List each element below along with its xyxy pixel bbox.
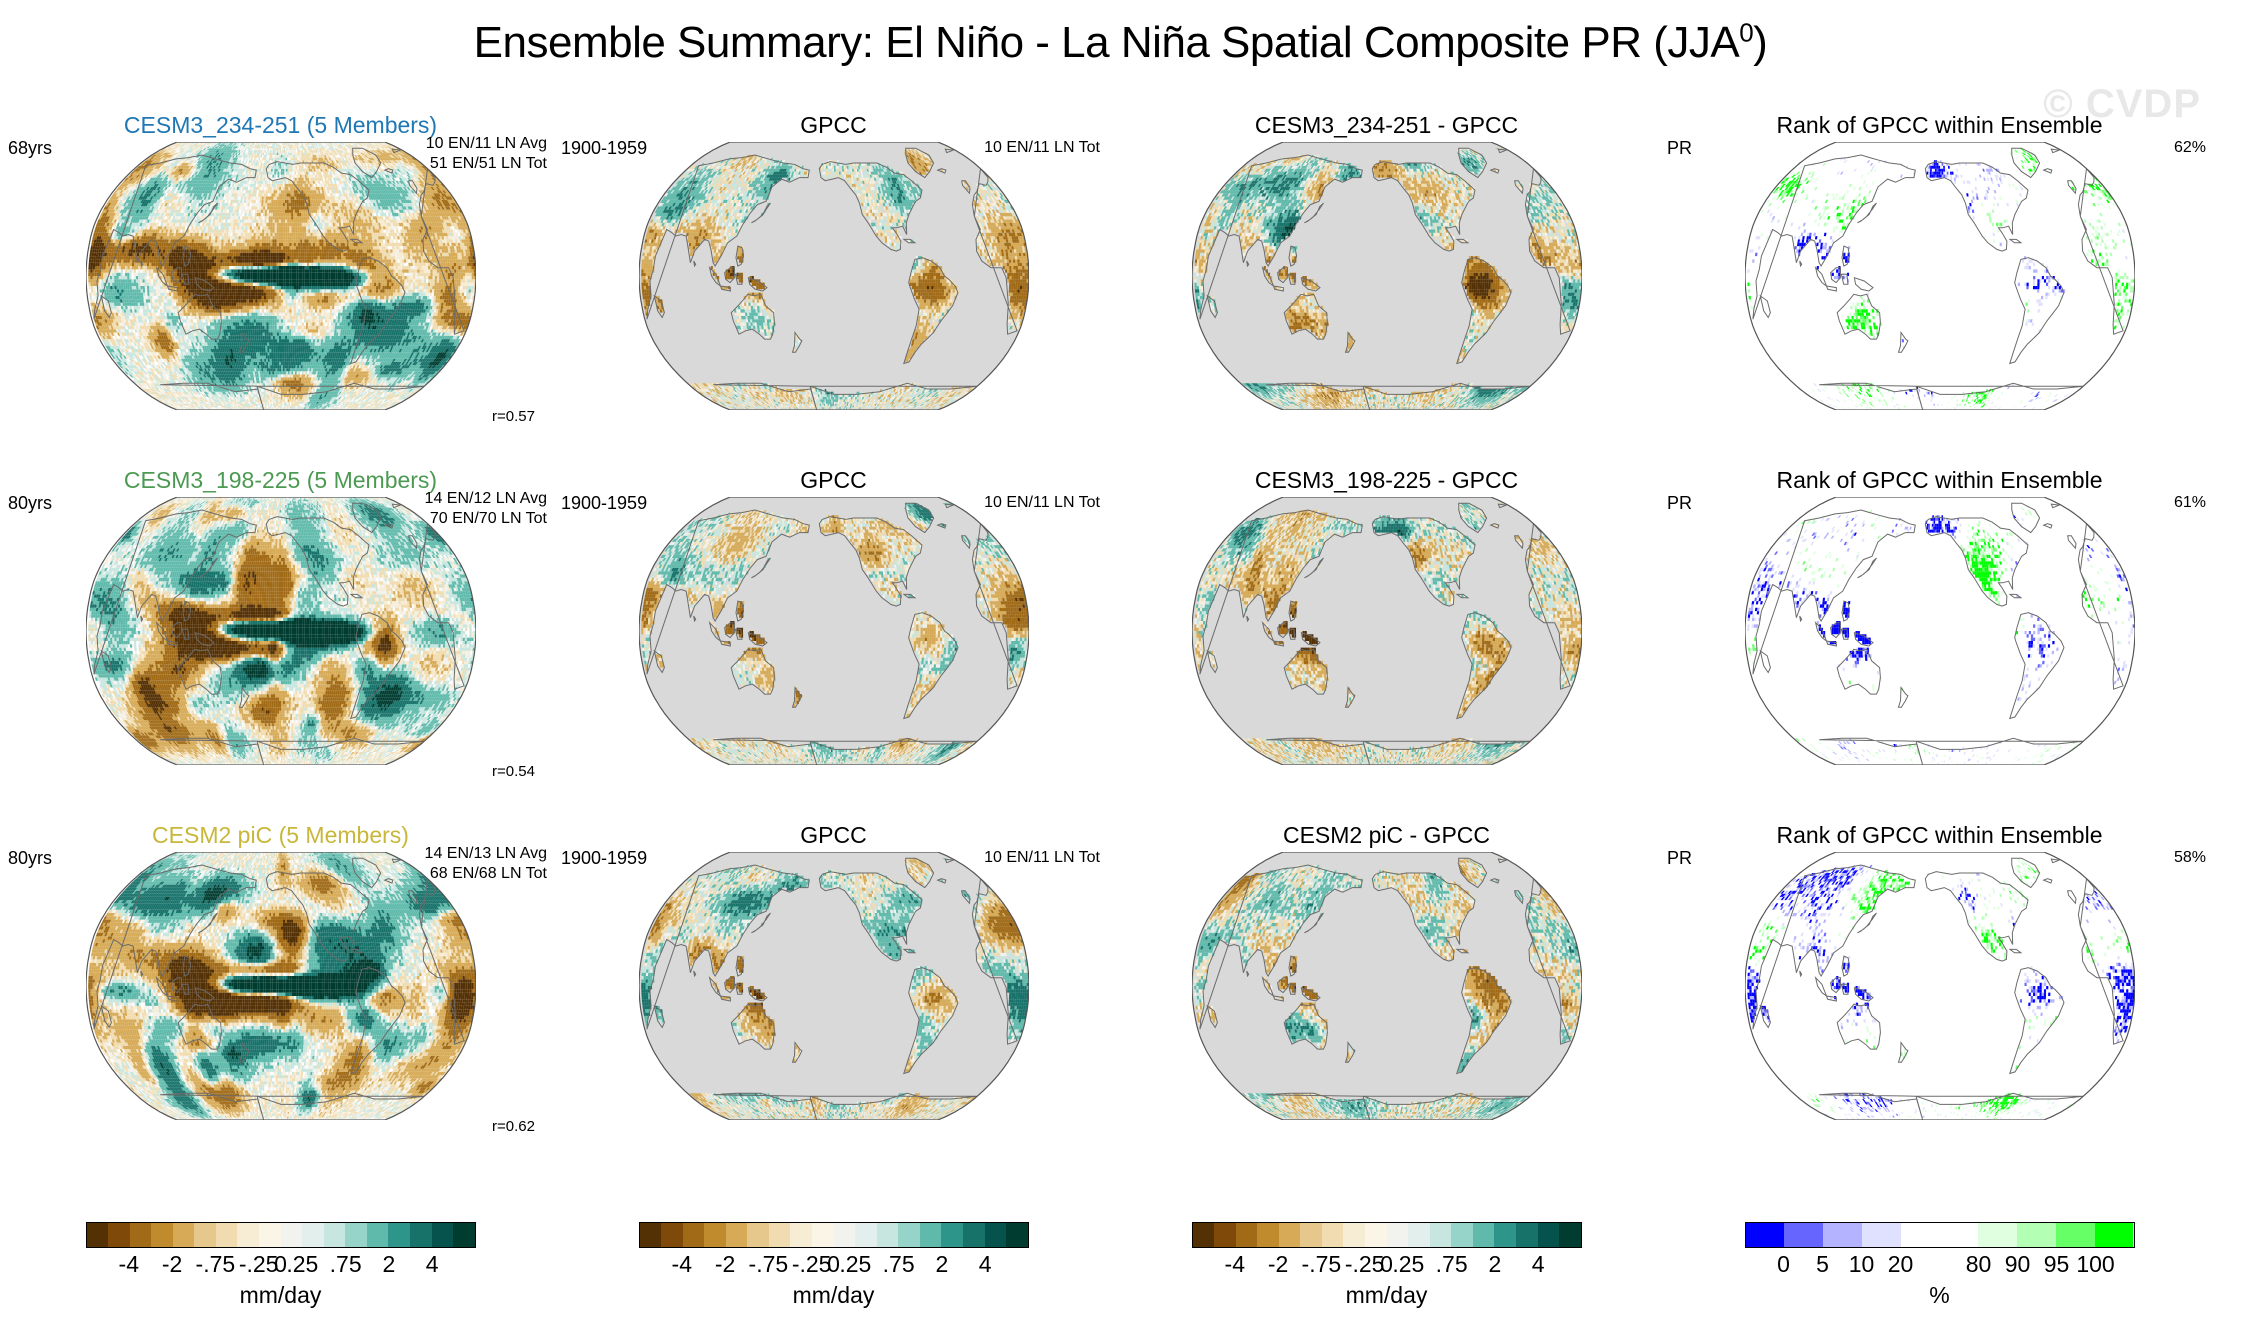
precip-colorbar-2-tick: 2 xyxy=(936,1251,949,1278)
rank-colorbar-swatch xyxy=(1901,1223,1940,1247)
rank-colorbar-swatch xyxy=(1823,1223,1862,1247)
precip-colorbar-3-swatch xyxy=(1193,1223,1215,1247)
precip-colorbar-3-swatch xyxy=(1300,1223,1322,1247)
rank-colorbar-unit: % xyxy=(1745,1282,2135,1309)
rank-colorbar-swatch xyxy=(2056,1223,2095,1247)
period-label: 1900-1959 xyxy=(561,138,647,159)
correlation-label: r=0.54 xyxy=(492,763,535,780)
precip-colorbar-3-swatch xyxy=(1365,1223,1387,1247)
precip-colorbar-3-tick: 2 xyxy=(1489,1251,1502,1278)
precip-colorbar-3-swatch xyxy=(1430,1223,1452,1247)
precip-colorbar-2-strip xyxy=(639,1222,1029,1248)
years-label: 68yrs xyxy=(8,138,52,159)
figure-root: Ensemble Summary: El Niño - La Niña Spat… xyxy=(0,0,2241,1320)
precip-colorbar-2: -4-2-.75-.250.25.7524mm/day xyxy=(639,1222,1029,1309)
precip-colorbar-2-swatch xyxy=(963,1223,985,1247)
panel-title-diff: CESM3_234-251 - GPCC xyxy=(1114,112,1659,139)
precip-colorbar-1-tick: .75 xyxy=(330,1251,362,1278)
panel-obs-row2[interactable]: GPCC1900-195910 EN/11 LN Tot xyxy=(561,467,1106,797)
precip-colorbar-3-tick: -2 xyxy=(1268,1251,1288,1278)
panel-title-rank: Rank of GPCC within Ensemble xyxy=(1667,467,2212,494)
precip-colorbar-1-swatch xyxy=(259,1223,281,1247)
rank-colorbar-swatch xyxy=(2095,1223,2134,1247)
precip-colorbar-3-tick: 4 xyxy=(1532,1251,1545,1278)
panel-title-rank: Rank of GPCC within Ensemble xyxy=(1667,112,2212,139)
rank-colorbar-tick: 90 xyxy=(2005,1251,2031,1278)
precip-colorbar-3: -4-2-.75-.250.25.7524mm/day xyxy=(1192,1222,1582,1309)
precip-colorbar-1-swatch xyxy=(302,1223,324,1247)
precip-colorbar-1-tick: 2 xyxy=(383,1251,396,1278)
precip-colorbar-3-swatch xyxy=(1516,1223,1538,1247)
panel-model-row2[interactable]: CESM3_198-225 (5 Members)80yrs14 EN/12 L… xyxy=(8,467,553,797)
page-title: Ensemble Summary: El Niño - La Niña Spat… xyxy=(0,18,2241,68)
rank-colorbar-swatch xyxy=(1746,1223,1785,1247)
precip-colorbar-3-unit: mm/day xyxy=(1192,1282,1582,1309)
precip-colorbar-3-swatch xyxy=(1559,1223,1581,1247)
title-superscript: 0 xyxy=(1739,17,1753,47)
map-model[interactable] xyxy=(86,497,476,765)
precip-colorbar-2-swatch xyxy=(941,1223,963,1247)
precip-colorbar-1-swatch xyxy=(453,1223,475,1247)
map-diff[interactable] xyxy=(1192,142,1582,410)
variable-label: PR xyxy=(1667,493,1692,514)
precip-colorbar-1-swatch xyxy=(388,1223,410,1247)
rank-percent-label: 61% xyxy=(2174,493,2206,513)
rank-colorbar-swatch xyxy=(2017,1223,2056,1247)
map-model[interactable] xyxy=(86,852,476,1120)
panel-title-diff: CESM2 piC - GPCC xyxy=(1114,822,1659,849)
precip-colorbar-3-swatch xyxy=(1387,1223,1409,1247)
panel-title-obs: GPCC xyxy=(561,822,1106,849)
precip-colorbar-1-tick: -2 xyxy=(162,1251,182,1278)
panel-rank-row3[interactable]: Rank of GPCC within EnsemblePR58% xyxy=(1667,822,2212,1152)
years-label: 80yrs xyxy=(8,848,52,869)
panel-obs-row1[interactable]: GPCC1900-195910 EN/11 LN Tot xyxy=(561,112,1106,442)
rank-colorbar-tick: 20 xyxy=(1888,1251,1914,1278)
variable-label: PR xyxy=(1667,848,1692,869)
precip-colorbar-1-swatch xyxy=(173,1223,195,1247)
precip-colorbar-2-swatch xyxy=(877,1223,899,1247)
precip-colorbar-2-tick: 0 xyxy=(827,1251,840,1278)
panel-title-obs: GPCC xyxy=(561,112,1106,139)
panel-model-row1[interactable]: CESM3_234-251 (5 Members)68yrs10 EN/11 L… xyxy=(8,112,553,442)
precip-colorbar-3-tick: .25 xyxy=(1392,1251,1424,1278)
map-rank[interactable] xyxy=(1745,497,2135,765)
precip-colorbar-3-swatch xyxy=(1322,1223,1344,1247)
panel-obs-row3[interactable]: GPCC1900-195910 EN/11 LN Tot xyxy=(561,822,1106,1152)
correlation-label: r=0.57 xyxy=(492,408,535,425)
period-label: 1900-1959 xyxy=(561,493,647,514)
precip-colorbar-1-tick: -.75 xyxy=(196,1251,236,1278)
panel-rank-row2[interactable]: Rank of GPCC within EnsemblePR61% xyxy=(1667,467,2212,797)
precip-colorbar-1-unit: mm/day xyxy=(86,1282,476,1309)
rank-colorbar-tick: 10 xyxy=(1849,1251,1875,1278)
rank-colorbar-swatch xyxy=(1862,1223,1901,1247)
panel-title-obs: GPCC xyxy=(561,467,1106,494)
map-obs[interactable] xyxy=(639,852,1029,1120)
rank-colorbar-strip xyxy=(1745,1222,2135,1248)
precip-colorbar-1-strip xyxy=(86,1222,476,1248)
panel-diff-row1[interactable]: CESM3_234-251 - GPCC xyxy=(1114,112,1659,442)
precip-colorbar-2-swatch xyxy=(790,1223,812,1247)
years-label: 80yrs xyxy=(8,493,52,514)
precip-colorbar-2-swatch xyxy=(747,1223,769,1247)
panel-title-diff: CESM3_198-225 - GPCC xyxy=(1114,467,1659,494)
map-obs[interactable] xyxy=(639,142,1029,410)
precip-colorbar-1-swatch xyxy=(410,1223,432,1247)
precip-colorbar-2-tick: -2 xyxy=(715,1251,735,1278)
precip-colorbar-2-swatch xyxy=(726,1223,748,1247)
precip-colorbar-3-swatch xyxy=(1343,1223,1365,1247)
precip-colorbar-3-swatch xyxy=(1214,1223,1236,1247)
map-rank[interactable] xyxy=(1745,142,2135,410)
map-diff[interactable] xyxy=(1192,497,1582,765)
precip-colorbar-2-tick: -.25 xyxy=(792,1251,832,1278)
map-obs[interactable] xyxy=(639,497,1029,765)
precip-colorbar-2-swatch xyxy=(1006,1223,1028,1247)
rank-colorbar-tick: 0 xyxy=(1777,1251,1790,1278)
precip-colorbar-1-swatch xyxy=(108,1223,130,1247)
precip-colorbar-2-swatch xyxy=(812,1223,834,1247)
precip-colorbar-3-tick: 0 xyxy=(1380,1251,1393,1278)
map-rank[interactable] xyxy=(1745,852,2135,1120)
precip-colorbar-2-unit: mm/day xyxy=(639,1282,1029,1309)
precip-colorbar-2-swatch xyxy=(640,1223,662,1247)
precip-colorbar-1-swatch xyxy=(432,1223,454,1247)
map-diff[interactable] xyxy=(1192,852,1582,1120)
precip-colorbar-2-swatch xyxy=(769,1223,791,1247)
precip-colorbar-1-swatch xyxy=(237,1223,259,1247)
precip-colorbar-3-swatch xyxy=(1236,1223,1258,1247)
precip-colorbar-2-swatch xyxy=(683,1223,705,1247)
rank-colorbar-swatch xyxy=(1939,1223,1978,1247)
precip-colorbar-2-tick: .25 xyxy=(839,1251,871,1278)
period-label: 1900-1959 xyxy=(561,848,647,869)
precip-colorbar-2-swatch xyxy=(855,1223,877,1247)
precip-colorbar-1: -4-2-.75-.250.25.7524mm/day xyxy=(86,1222,476,1309)
precip-colorbar-1-tick: 4 xyxy=(426,1251,439,1278)
precip-colorbar-2-swatch xyxy=(898,1223,920,1247)
precip-colorbar-2-tick: .75 xyxy=(883,1251,915,1278)
precip-colorbar-2-tick: -.75 xyxy=(749,1251,789,1278)
rank-colorbar-tick: 5 xyxy=(1816,1251,1829,1278)
precip-colorbar-3-swatch xyxy=(1279,1223,1301,1247)
panel-title-rank: Rank of GPCC within Ensemble xyxy=(1667,822,2212,849)
precip-colorbar-3-strip xyxy=(1192,1222,1582,1248)
title-text: Ensemble Summary: El Niño - La Niña Spat… xyxy=(474,18,1740,67)
panel-model-row3[interactable]: CESM2 piC (5 Members)80yrs14 EN/13 LN Av… xyxy=(8,822,553,1152)
precip-colorbar-3-swatch xyxy=(1451,1223,1473,1247)
precip-colorbar-1-swatch xyxy=(151,1223,173,1247)
rank-percent-label: 62% xyxy=(2174,138,2206,158)
map-model[interactable] xyxy=(86,142,476,410)
precip-colorbar-1-swatch xyxy=(367,1223,389,1247)
precip-colorbar-1-swatch xyxy=(130,1223,152,1247)
panel-diff-row3[interactable]: CESM2 piC - GPCC xyxy=(1114,822,1659,1152)
precip-colorbar-1-ticks: -4-2-.75-.250.25.7524 xyxy=(86,1251,476,1281)
precip-colorbar-1-swatch xyxy=(345,1223,367,1247)
panel-rank-row1[interactable]: Rank of GPCC within EnsemblePR62% xyxy=(1667,112,2212,442)
precip-colorbar-2-tick: 4 xyxy=(979,1251,992,1278)
rank-colorbar-tick: 95 xyxy=(2044,1251,2070,1278)
precip-colorbar-1-tick: 0 xyxy=(274,1251,287,1278)
precip-colorbar-1-swatch xyxy=(281,1223,303,1247)
precip-colorbar-1-swatch xyxy=(194,1223,216,1247)
precip-colorbar-1-tick: -4 xyxy=(119,1251,139,1278)
rank-colorbar-tick: 100 xyxy=(2076,1251,2114,1278)
precip-colorbar-1-tick: .25 xyxy=(286,1251,318,1278)
precip-colorbar-2-tick: -4 xyxy=(672,1251,692,1278)
rank-colorbar-swatch xyxy=(1784,1223,1823,1247)
rank-colorbar: 051020809095100% xyxy=(1745,1222,2135,1309)
precip-colorbar-1-swatch xyxy=(324,1223,346,1247)
correlation-label: r=0.62 xyxy=(492,1118,535,1135)
precip-colorbar-3-swatch xyxy=(1408,1223,1430,1247)
precip-colorbar-3-tick: .75 xyxy=(1436,1251,1468,1278)
precip-colorbar-1-tick: -.25 xyxy=(239,1251,279,1278)
precip-colorbar-1-swatch xyxy=(216,1223,238,1247)
precip-colorbar-3-swatch xyxy=(1473,1223,1495,1247)
panel-diff-row2[interactable]: CESM3_198-225 - GPCC xyxy=(1114,467,1659,797)
precip-colorbar-2-swatch xyxy=(661,1223,683,1247)
precip-colorbar-3-swatch xyxy=(1494,1223,1516,1247)
variable-label: PR xyxy=(1667,138,1692,159)
precip-colorbar-2-swatch xyxy=(920,1223,942,1247)
rank-colorbar-tick: 80 xyxy=(1966,1251,1992,1278)
precip-colorbar-2-swatch xyxy=(985,1223,1007,1247)
precip-colorbar-3-swatch xyxy=(1538,1223,1560,1247)
rank-colorbar-swatch xyxy=(1978,1223,2017,1247)
precip-colorbar-3-tick: -.75 xyxy=(1302,1251,1342,1278)
precip-colorbar-2-swatch xyxy=(704,1223,726,1247)
precip-colorbar-2-swatch xyxy=(834,1223,856,1247)
precip-colorbar-3-tick: -.25 xyxy=(1345,1251,1385,1278)
precip-colorbar-3-swatch xyxy=(1257,1223,1279,1247)
rank-colorbar-ticks: 051020809095100 xyxy=(1745,1251,2135,1281)
precip-colorbar-3-tick: -4 xyxy=(1225,1251,1245,1278)
title-close: ) xyxy=(1753,18,1767,67)
precip-colorbar-3-ticks: -4-2-.75-.250.25.7524 xyxy=(1192,1251,1582,1281)
precip-colorbar-1-swatch xyxy=(87,1223,109,1247)
precip-colorbar-2-ticks: -4-2-.75-.250.25.7524 xyxy=(639,1251,1029,1281)
rank-percent-label: 58% xyxy=(2174,848,2206,868)
